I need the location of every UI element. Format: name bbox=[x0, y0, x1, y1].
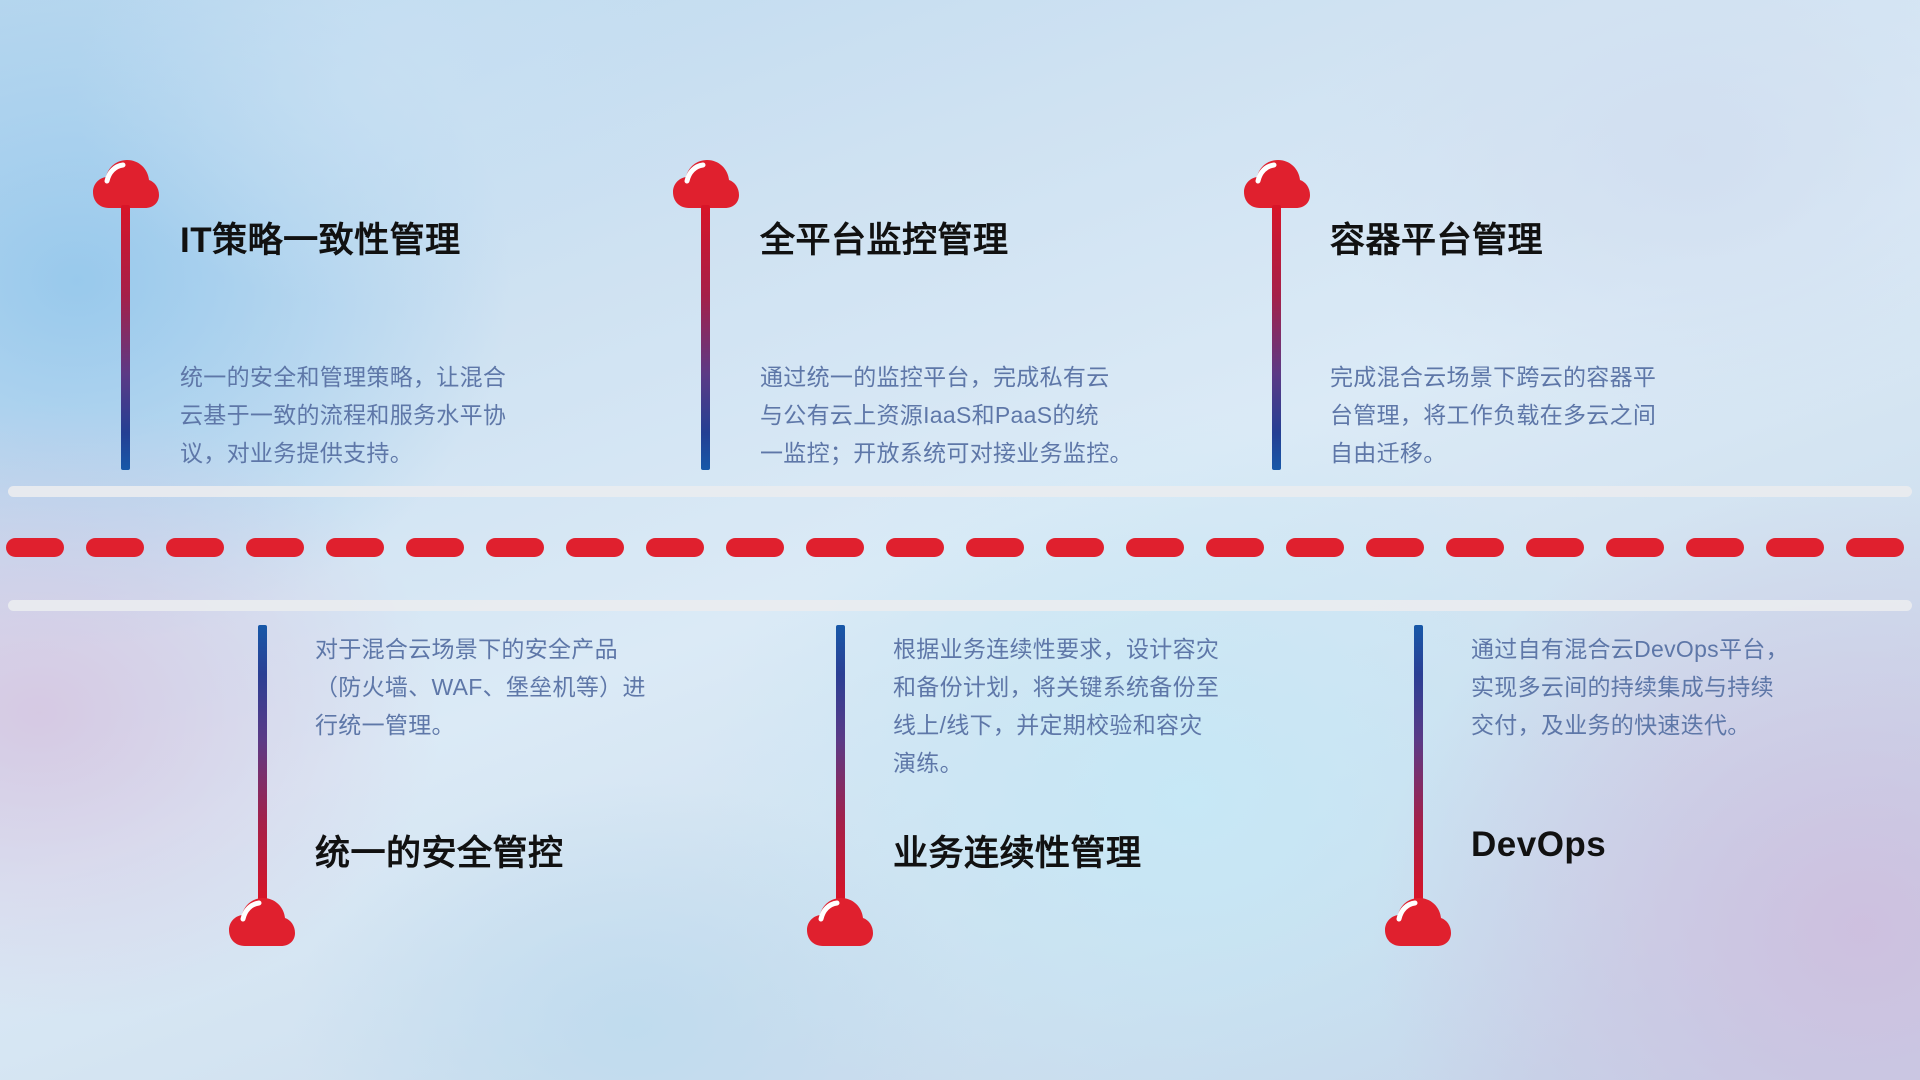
road-dash bbox=[1766, 538, 1824, 557]
item-heading: 全平台监控管理 bbox=[760, 212, 1009, 263]
road-dash bbox=[1046, 538, 1104, 557]
road-dash bbox=[166, 538, 224, 557]
timeline-stem bbox=[121, 205, 130, 470]
item-heading: DevOps bbox=[1471, 825, 1606, 865]
item-heading: 业务连续性管理 bbox=[893, 825, 1142, 876]
item-paragraph: 通过自有混合云DevOps平台， 实现多云间的持续集成与持续 交付，及业务的快速… bbox=[1471, 630, 1901, 744]
road-dash bbox=[86, 538, 144, 557]
item-heading: 统一的安全管控 bbox=[315, 825, 564, 876]
cloud-icon bbox=[672, 158, 740, 210]
item-heading: 容器平台管理 bbox=[1330, 212, 1543, 263]
road-dash bbox=[1686, 538, 1744, 557]
road-dash bbox=[966, 538, 1024, 557]
road-dash bbox=[246, 538, 304, 557]
road-dash bbox=[1126, 538, 1184, 557]
road-dash bbox=[646, 538, 704, 557]
road-dash-line bbox=[0, 537, 1920, 557]
road-dash bbox=[726, 538, 784, 557]
road-dash bbox=[1526, 538, 1584, 557]
road-dash bbox=[566, 538, 624, 557]
road-dash bbox=[6, 538, 64, 557]
timeline-stem bbox=[258, 625, 267, 900]
cloud-icon bbox=[1384, 896, 1452, 948]
cloud-icon bbox=[1243, 158, 1311, 210]
road-dash bbox=[1606, 538, 1664, 557]
road-edge-bottom bbox=[8, 600, 1912, 611]
cloud-icon bbox=[228, 896, 296, 948]
road-dash bbox=[406, 538, 464, 557]
road-dash bbox=[1846, 538, 1904, 557]
road-edge-top bbox=[8, 486, 1912, 497]
road-dash bbox=[806, 538, 864, 557]
timeline-stem bbox=[1414, 625, 1423, 900]
timeline-stem bbox=[701, 205, 710, 470]
road-divider bbox=[0, 486, 1920, 611]
item-heading: IT策略一致性管理 bbox=[180, 212, 461, 263]
cloud-icon bbox=[92, 158, 160, 210]
cloud-icon bbox=[806, 896, 874, 948]
road-dash bbox=[486, 538, 544, 557]
road-dash bbox=[1206, 538, 1264, 557]
road-dash bbox=[886, 538, 944, 557]
road-dash bbox=[1446, 538, 1504, 557]
road-dash bbox=[326, 538, 384, 557]
item-paragraph: 对于混合云场景下的安全产品 （防火墙、WAF、堡垒机等）进 行统一管理。 bbox=[315, 630, 745, 744]
item-paragraph: 统一的安全和管理策略，让混合 云基于一致的流程和服务水平协 议，对业务提供支持。 bbox=[180, 358, 610, 472]
timeline-stem bbox=[1272, 205, 1281, 470]
timeline-stem bbox=[836, 625, 845, 900]
road-dash bbox=[1286, 538, 1344, 557]
road-dash bbox=[1366, 538, 1424, 557]
item-paragraph: 完成混合云场景下跨云的容器平 台管理，将工作负载在多云之间 自由迁移。 bbox=[1330, 358, 1780, 472]
item-paragraph: 根据业务连续性要求，设计容灾 和备份计划，将关键系统备份至 线上/线下，并定期校… bbox=[893, 630, 1333, 782]
item-paragraph: 通过统一的监控平台，完成私有云 与公有云上资源IaaS和PaaS的统 一监控；开… bbox=[760, 358, 1220, 472]
